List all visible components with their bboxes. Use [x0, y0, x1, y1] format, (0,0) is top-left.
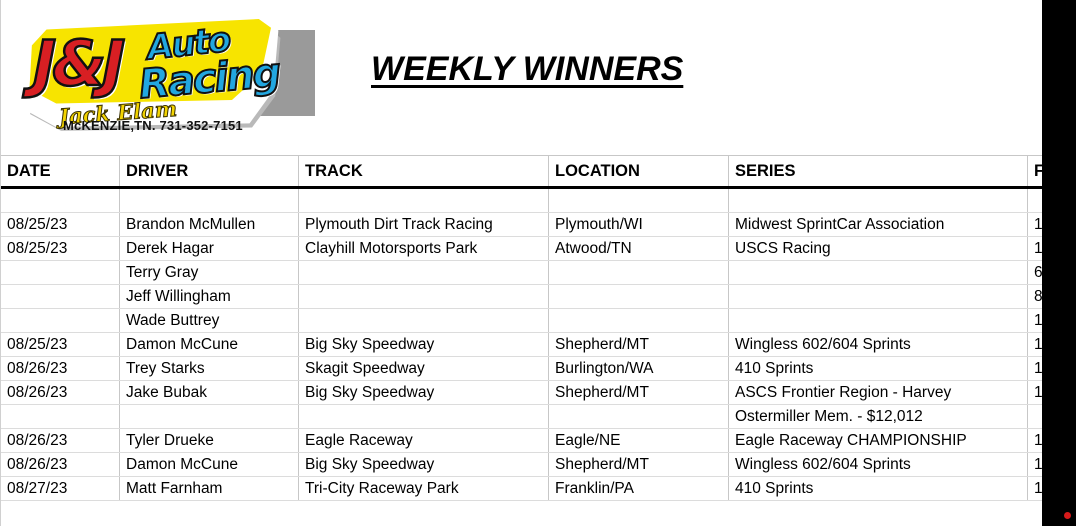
table-row: 08/26/23Trey StarksSkagit SpeedwayBurlin… — [1, 357, 1042, 381]
cell-driver[interactable]: Brandon McMullen — [120, 213, 299, 237]
cell-track[interactable]: Plymouth Dirt Track Racing — [299, 213, 549, 237]
cell-track[interactable]: Eagle Raceway — [299, 429, 549, 453]
cell-finish[interactable]: 10th — [1028, 309, 1043, 333]
cell-finish[interactable]: 1st — [1028, 453, 1043, 477]
table-row: Wade Buttrey10th — [1, 309, 1042, 333]
table-row: 08/26/23Damon McCuneBig Sky SpeedwayShep… — [1, 453, 1042, 477]
cell-location[interactable] — [549, 405, 729, 429]
cell-date[interactable] — [1, 309, 120, 333]
cell-date[interactable] — [1, 261, 120, 285]
cell-date[interactable] — [1, 285, 120, 309]
cell-date[interactable]: 08/26/23 — [1, 453, 120, 477]
cell-driver[interactable]: Wade Buttrey — [120, 309, 299, 333]
column-header-series[interactable]: SERIES — [729, 156, 1028, 188]
cell-driver[interactable]: Tyler Drueke — [120, 429, 299, 453]
cell-track[interactable]: Clayhill Motorsports Park — [299, 237, 549, 261]
table-row: 08/27/23Matt FarnhamTri-City Raceway Par… — [1, 477, 1042, 501]
cell-finish[interactable]: 1st — [1028, 357, 1043, 381]
cell-date[interactable]: 08/26/23 — [1, 357, 120, 381]
spreadsheet-sheet: J&J Auto Racing Jack Elam McKENZIE,TN. 7… — [0, 0, 1042, 526]
cell-location[interactable]: Franklin/PA — [549, 477, 729, 501]
table-row: 08/25/23Damon McCuneBig Sky SpeedwayShep… — [1, 333, 1042, 357]
table-row: 08/26/23Jake BubakBig Sky SpeedwayShephe… — [1, 381, 1042, 405]
red-marker-dot — [1064, 512, 1071, 519]
cell-date[interactable]: 08/25/23 — [1, 333, 120, 357]
cell-driver[interactable]: Jeff Willingham — [120, 285, 299, 309]
cell-driver[interactable]: Damon McCune — [120, 333, 299, 357]
cell-track[interactable]: Big Sky Speedway — [299, 333, 549, 357]
cell-finish[interactable]: 1st — [1028, 333, 1043, 357]
cell-date[interactable] — [1, 188, 120, 213]
cell-finish[interactable]: 1st — [1028, 213, 1043, 237]
cell-date[interactable] — [1, 405, 120, 429]
table-row — [1, 188, 1042, 213]
cell-finish[interactable]: 1st — [1028, 381, 1043, 405]
logo-text-address: McKENZIE,TN. 731-352-7151 — [63, 118, 243, 133]
cell-series[interactable]: ASCS Frontier Region - Harvey — [729, 381, 1028, 405]
cell-series[interactable]: Midwest SprintCar Association — [729, 213, 1028, 237]
cell-location[interactable] — [549, 188, 729, 213]
table-header: DATE DRIVER TRACK LOCATION SERIES FINISH — [1, 156, 1042, 188]
cell-driver[interactable]: Damon McCune — [120, 453, 299, 477]
cell-date[interactable]: 08/25/23 — [1, 213, 120, 237]
cell-driver[interactable]: Derek Hagar — [120, 237, 299, 261]
cell-driver[interactable]: Matt Farnham — [120, 477, 299, 501]
cell-series[interactable]: 410 Sprints — [729, 357, 1028, 381]
table-row: 08/25/23Derek HagarClayhill Motorsports … — [1, 237, 1042, 261]
cell-date[interactable]: 08/27/23 — [1, 477, 120, 501]
cell-location[interactable] — [549, 285, 729, 309]
cell-track[interactable] — [299, 309, 549, 333]
cell-driver[interactable] — [120, 188, 299, 213]
cell-date[interactable]: 08/26/23 — [1, 381, 120, 405]
cell-track[interactable] — [299, 261, 549, 285]
cell-series[interactable]: Ostermiller Mem. - $12,012 — [729, 405, 1028, 429]
cell-location[interactable]: Atwood/TN — [549, 237, 729, 261]
cell-series[interactable] — [729, 309, 1028, 333]
cell-driver[interactable] — [120, 405, 299, 429]
cell-driver[interactable]: Trey Starks — [120, 357, 299, 381]
cell-location[interactable]: Plymouth/WI — [549, 213, 729, 237]
table-header-row: DATE DRIVER TRACK LOCATION SERIES FINISH — [1, 156, 1042, 188]
cell-track[interactable] — [299, 285, 549, 309]
sheet-header-band: J&J Auto Racing Jack Elam McKENZIE,TN. 7… — [1, 0, 1042, 155]
cell-track[interactable] — [299, 405, 549, 429]
cell-location[interactable]: Burlington/WA — [549, 357, 729, 381]
table-row: Terry Gray6th — [1, 261, 1042, 285]
table-row: 08/26/23Tyler DruekeEagle RacewayEagle/N… — [1, 429, 1042, 453]
cell-finish[interactable]: 1st — [1028, 237, 1043, 261]
cell-finish[interactable]: 8th — [1028, 285, 1043, 309]
cell-location[interactable]: Shepherd/MT — [549, 381, 729, 405]
cell-series[interactable] — [729, 261, 1028, 285]
column-header-date[interactable]: DATE — [1, 156, 120, 188]
table-row: Ostermiller Mem. - $12,012 — [1, 405, 1042, 429]
cell-series[interactable]: USCS Racing — [729, 237, 1028, 261]
cell-date[interactable]: 08/25/23 — [1, 237, 120, 261]
right-black-band — [1042, 0, 1076, 526]
cell-date[interactable]: 08/26/23 — [1, 429, 120, 453]
cell-series[interactable]: 410 Sprints — [729, 477, 1028, 501]
cell-finish[interactable]: 6th — [1028, 261, 1043, 285]
cell-series[interactable]: Wingless 602/604 Sprints — [729, 333, 1028, 357]
cell-series[interactable] — [729, 285, 1028, 309]
page-title: WEEKLY WINNERS — [371, 49, 683, 89]
cell-driver[interactable]: Jake Bubak — [120, 381, 299, 405]
cell-series[interactable]: Wingless 602/604 Sprints — [729, 453, 1028, 477]
cell-series[interactable]: Eagle Raceway CHAMPIONSHIP — [729, 429, 1028, 453]
cell-track[interactable]: Tri-City Raceway Park — [299, 477, 549, 501]
cell-track[interactable]: Skagit Speedway — [299, 357, 549, 381]
cell-track[interactable] — [299, 188, 549, 213]
cell-location[interactable]: Eagle/NE — [549, 429, 729, 453]
cell-series[interactable] — [729, 188, 1028, 213]
column-header-driver[interactable]: DRIVER — [120, 156, 299, 188]
column-header-track[interactable]: TRACK — [299, 156, 549, 188]
weekly-winners-table: DATE DRIVER TRACK LOCATION SERIES FINISH… — [1, 155, 1042, 501]
cell-location[interactable]: Shepherd/MT — [549, 333, 729, 357]
table-row: 08/25/23Brandon McMullenPlymouth Dirt Tr… — [1, 213, 1042, 237]
cell-finish[interactable]: 1st — [1028, 477, 1043, 501]
column-header-finish[interactable]: FINISH — [1028, 156, 1043, 188]
cell-finish[interactable] — [1028, 405, 1043, 429]
cell-track[interactable]: Big Sky Speedway — [299, 381, 549, 405]
table-row: Jeff Willingham8th — [1, 285, 1042, 309]
cell-location[interactable] — [549, 309, 729, 333]
cell-finish[interactable]: 1st — [1028, 429, 1043, 453]
column-header-location[interactable]: LOCATION — [549, 156, 729, 188]
cell-track[interactable]: Big Sky Speedway — [299, 453, 549, 477]
cell-location[interactable] — [549, 261, 729, 285]
cell-location[interactable]: Shepherd/MT — [549, 453, 729, 477]
jj-auto-racing-logo: J&J Auto Racing Jack Elam McKENZIE,TN. 7… — [19, 8, 304, 138]
table-body: 08/25/23Brandon McMullenPlymouth Dirt Tr… — [1, 188, 1042, 501]
cell-finish[interactable] — [1028, 188, 1043, 213]
logo-plate: J&J Auto Racing Jack Elam McKENZIE,TN. 7… — [19, 12, 287, 134]
cell-driver[interactable]: Terry Gray — [120, 261, 299, 285]
